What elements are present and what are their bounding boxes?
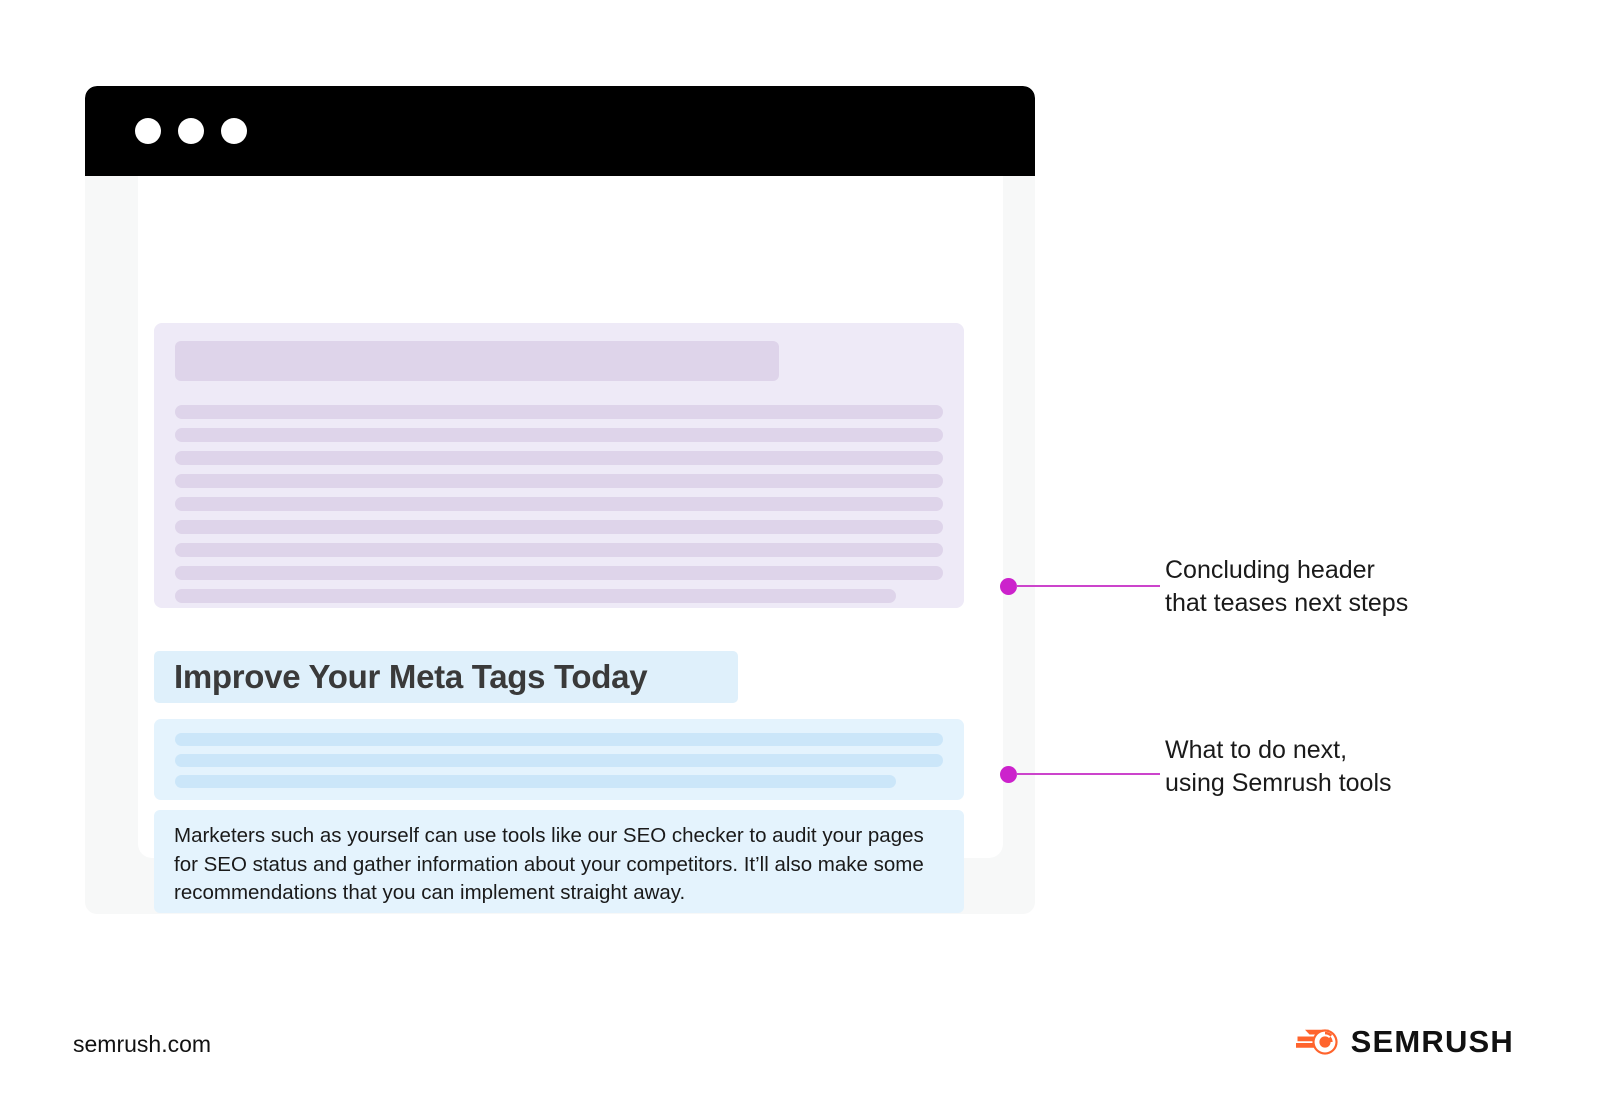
purple-skeleton-line	[175, 497, 943, 511]
blue-skeleton-block	[154, 719, 964, 800]
window-dot-minimize-icon[interactable]	[178, 118, 204, 144]
window-dot-maximize-icon[interactable]	[221, 118, 247, 144]
semrush-wordmark: SEMRUSH	[1351, 1024, 1514, 1060]
blue-skeleton-line	[175, 733, 943, 746]
browser-window-mockup: Improve Your Meta Tags Today Marketers s…	[85, 86, 1035, 914]
page-heading: Improve Your Meta Tags Today	[174, 658, 874, 696]
purple-skeleton-line	[175, 543, 943, 557]
purple-skeleton-line	[175, 405, 943, 419]
semrush-logo: SEMRUSH	[1296, 1024, 1514, 1060]
browser-titlebar	[85, 86, 1035, 176]
callout-marker-dot-icon	[1000, 766, 1017, 783]
purple-skeleton-line	[175, 589, 896, 603]
callout-connector-line	[1016, 773, 1160, 775]
page-content-card: Improve Your Meta Tags Today Marketers s…	[138, 176, 1003, 858]
blue-skeleton-line	[175, 754, 943, 767]
callout-label-what-to-do-next: What to do next, using Semrush tools	[1165, 734, 1585, 800]
purple-skeleton-block	[154, 323, 964, 608]
purple-skeleton-line	[175, 428, 943, 442]
paragraph-text: Marketers such as yourself can use tools…	[174, 822, 952, 908]
window-dot-close-icon[interactable]	[135, 118, 161, 144]
purple-skeleton-heading-bar	[175, 341, 779, 381]
purple-skeleton-line	[175, 474, 943, 488]
purple-skeleton-line	[175, 566, 943, 580]
paragraph-highlight-block: Marketers such as yourself can use tools…	[154, 810, 964, 913]
callout-connector-line	[1016, 585, 1160, 587]
purple-skeleton-line	[175, 451, 943, 465]
semrush-comet-icon	[1296, 1025, 1340, 1059]
callout-label-concluding-header: Concluding header that teases next steps	[1165, 554, 1585, 620]
blue-skeleton-line	[175, 775, 896, 788]
footer-website-url: semrush.com	[73, 1031, 211, 1058]
purple-skeleton-line	[175, 520, 943, 534]
callout-marker-dot-icon	[1000, 578, 1017, 595]
